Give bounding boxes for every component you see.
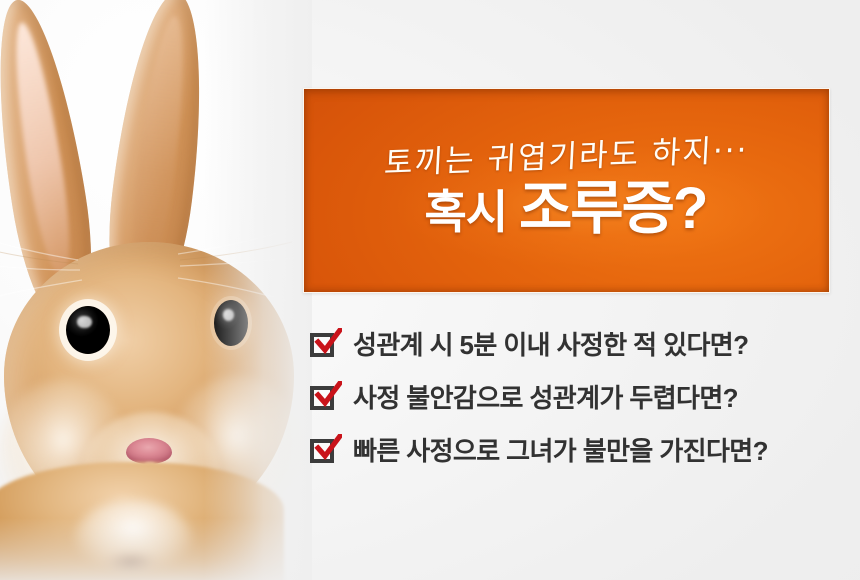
headline-banner: 토끼는 귀엽기라도 하지··· 혹시 조루증? (303, 88, 830, 293)
headline-emphasis-text: 조루증 (519, 176, 673, 241)
checklist-item[interactable]: 성관계 시 5분 이내 사정한 적 있다면? (310, 318, 840, 371)
rabbit-eye-left-glint (77, 316, 91, 328)
checked-checkbox-icon[interactable] (310, 436, 340, 466)
symptom-checklist: 성관계 시 5분 이내 사정한 적 있다면? 사정 불안감으로 성관계가 두렵다… (310, 318, 840, 477)
checklist-item[interactable]: 빠른 사정으로 그녀가 불만을 가진다면? (310, 424, 840, 477)
checkmark-icon (314, 328, 342, 356)
rabbit-eye-left-icon (66, 306, 110, 354)
headline-question-mark: ? (673, 176, 708, 241)
checklist-item-label: 사정 불안감으로 성관계가 두렵다면? (353, 385, 738, 411)
checklist-item[interactable]: 사정 불안감으로 성관계가 두렵다면? (310, 371, 840, 424)
rabbit-nose-icon (126, 438, 172, 464)
rabbit-photo (0, 0, 312, 580)
headline-main-line: 혹시 조루증? (425, 179, 709, 239)
headline-script-line: 토끼는 귀엽기라도 하지··· (384, 135, 750, 179)
checklist-item-label: 성관계 시 5분 이내 사정한 적 있다면? (353, 332, 748, 358)
checked-checkbox-icon[interactable] (310, 383, 340, 413)
checkmark-icon (314, 381, 342, 409)
checklist-item-label: 빠른 사정으로 그녀가 불만을 가진다면? (353, 438, 768, 464)
checkmark-icon (314, 434, 342, 462)
photo-right-fade (204, 0, 312, 580)
headline-lead-text: 혹시 (425, 186, 519, 238)
ad-banner-root: 토끼는 귀엽기라도 하지··· 혹시 조루증? 성관계 시 5분 이내 사정한 … (0, 0, 860, 580)
checked-checkbox-icon[interactable] (310, 330, 340, 360)
